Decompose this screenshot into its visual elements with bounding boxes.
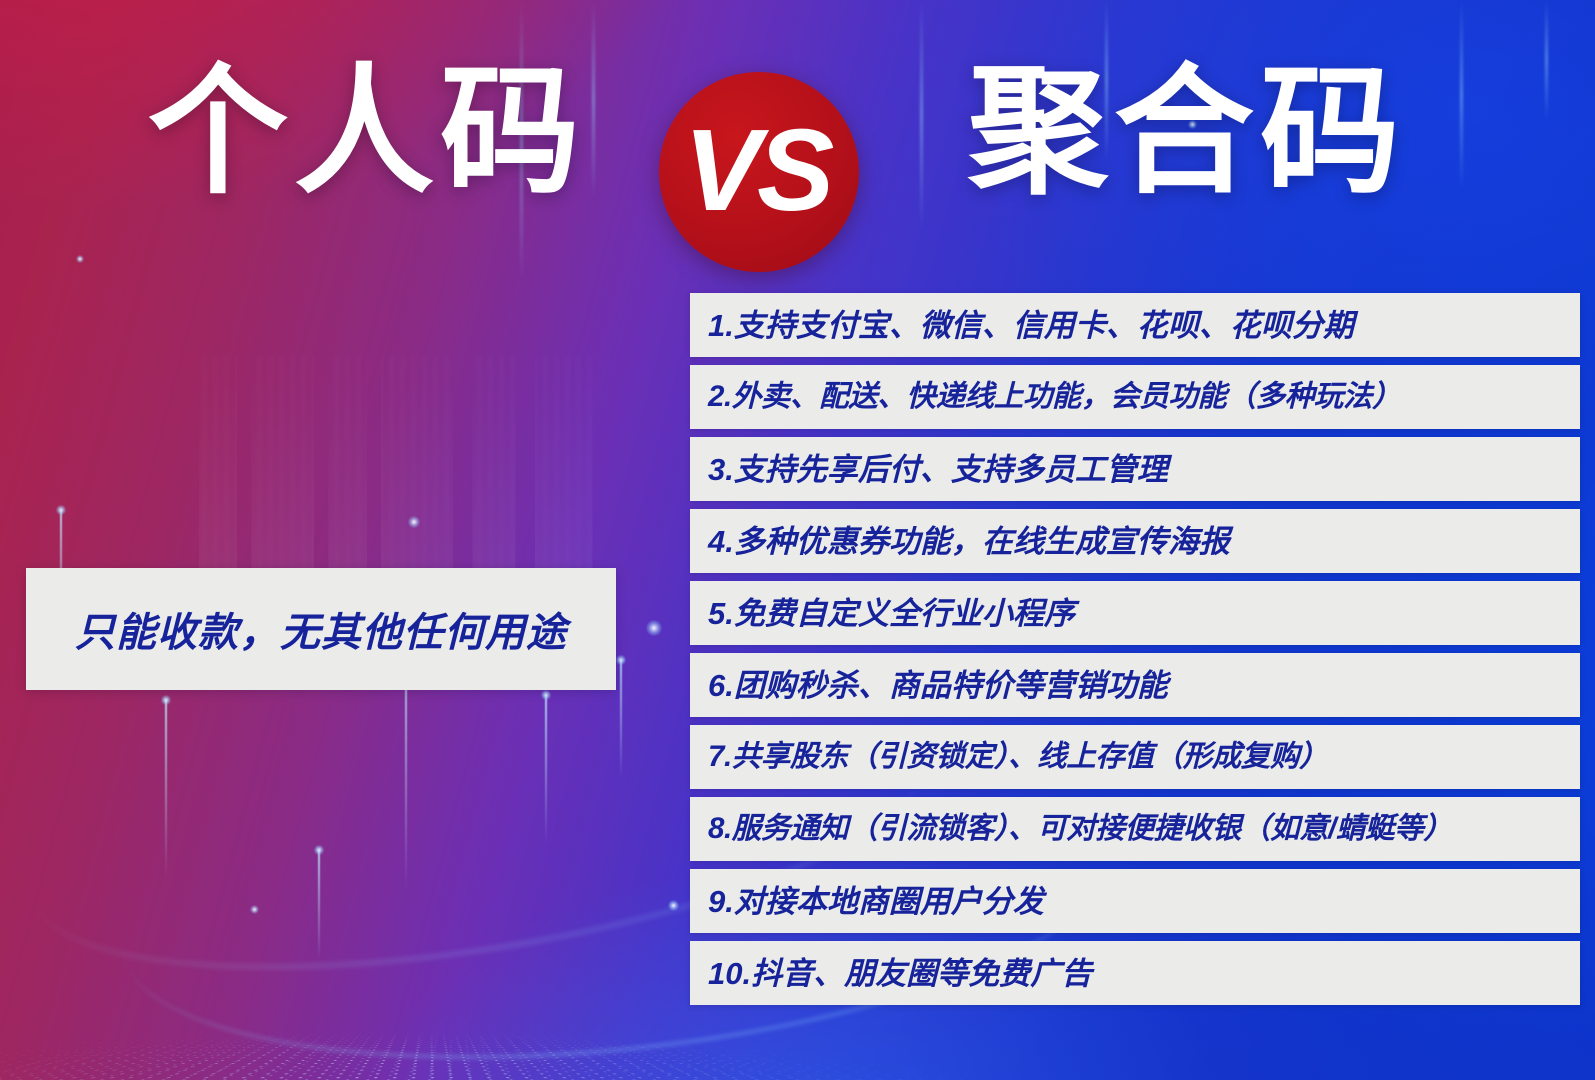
feature-row-text: 10.抖音、朋友圈等免费广告 xyxy=(708,958,1092,989)
feature-row-text: 1.支持支付宝、微信、信用卡、花呗、花呗分期 xyxy=(708,310,1354,341)
feature-row: 1.支持支付宝、微信、信用卡、花呗、花呗分期 xyxy=(690,293,1580,357)
light-pillar xyxy=(318,850,320,960)
feature-row: 4.多种优惠券功能，在线生成宣传海报 xyxy=(690,509,1580,573)
feature-row: 6.团购秒杀、商品特价等营销功能 xyxy=(690,653,1580,717)
feature-row: 8.服务通知（引流锁客）、可对接便捷收银（如意/蜻蜓等） xyxy=(690,797,1580,861)
light-pillar xyxy=(620,660,622,780)
feature-row-text: 6.团购秒杀、商品特价等营销功能 xyxy=(708,670,1168,701)
feature-row: 5.免费自定义全行业小程序 xyxy=(690,581,1580,645)
right-title: 聚合码 xyxy=(968,62,1406,202)
light-pillar xyxy=(545,695,547,845)
poster-canvas: 个人码 VS 聚合码 只能收款，无其他任何用途 1.支持支付宝、微信、信用卡、花… xyxy=(0,0,1595,1080)
sparkle-dot xyxy=(646,620,662,636)
left-callout-text: 只能收款，无其他任何用途 xyxy=(75,600,567,658)
feature-row: 10.抖音、朋友圈等免费广告 xyxy=(690,941,1580,1005)
feature-row-text: 5.免费自定义全行业小程序 xyxy=(708,598,1075,629)
feature-row: 2.外卖、配送、快递线上功能，会员功能（多种玩法） xyxy=(690,365,1580,429)
left-title: 个人码 xyxy=(148,62,586,202)
feature-row-text: 9.对接本地商圈用户分发 xyxy=(708,886,1044,917)
feature-row-text: 8.服务通知（引流锁客）、可对接便捷收银（如意/蜻蜓等） xyxy=(708,814,1452,844)
feature-row: 9.对接本地商圈用户分发 xyxy=(690,869,1580,933)
headline: 个人码 VS 聚合码 xyxy=(0,0,1595,280)
feature-row-text: 7.共享股东（引资锁定）、线上存值（形成复购） xyxy=(708,742,1328,772)
light-pillar xyxy=(405,660,407,890)
left-callout-box: 只能收款，无其他任何用途 xyxy=(26,568,616,690)
vs-badge: VS xyxy=(659,72,859,272)
vs-label: VS xyxy=(684,112,831,228)
feature-row-text: 4.多种优惠券功能，在线生成宣传海报 xyxy=(708,526,1230,557)
feature-list: 1.支持支付宝、微信、信用卡、花呗、花呗分期 2.外卖、配送、快递线上功能，会员… xyxy=(690,293,1580,1005)
feature-row: 7.共享股东（引资锁定）、线上存值（形成复购） xyxy=(690,725,1580,789)
light-pillar xyxy=(165,700,167,880)
feature-row-text: 2.外卖、配送、快递线上功能，会员功能（多种玩法） xyxy=(708,382,1401,412)
feature-row-text: 3.支持先享后付、支持多员工管理 xyxy=(708,454,1168,485)
feature-row: 3.支持先享后付、支持多员工管理 xyxy=(690,437,1580,501)
sparkle-dot xyxy=(250,905,259,914)
sparkle-dot xyxy=(408,516,420,528)
sparkle-dot xyxy=(668,900,679,911)
